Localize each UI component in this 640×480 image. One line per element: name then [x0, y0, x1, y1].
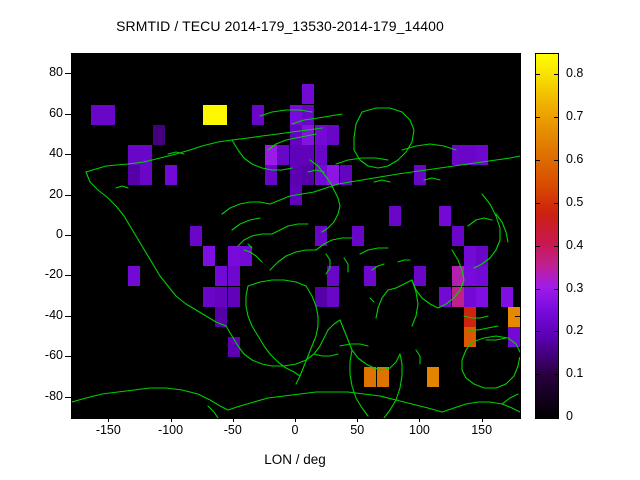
y-tick-label: 0 — [19, 227, 63, 241]
colorbar-tick-mark — [554, 246, 559, 247]
y-tick-mark — [515, 356, 520, 357]
colorbar-tick-mark — [554, 203, 559, 204]
colorbar-tick-mark — [554, 417, 559, 418]
y-tick-mark — [515, 73, 520, 74]
y-tick-mark — [65, 73, 71, 74]
y-tick-label: 20 — [19, 187, 63, 201]
colorbar-tick-label: 0.5 — [566, 195, 583, 209]
colorbar-gradient — [536, 54, 558, 418]
colorbar-tick-label: 0.4 — [566, 238, 583, 252]
x-tick-label: -100 — [141, 423, 201, 437]
colorbar-tick-mark — [535, 374, 540, 375]
y-tick-mark — [65, 195, 71, 196]
colorbar-tick-label: 0.2 — [566, 323, 583, 337]
colorbar-tick-mark — [535, 117, 540, 118]
x-tick-mark — [108, 53, 109, 58]
chart-title: SRMTID / TECU 2014-179_13530-2014-179_14… — [0, 18, 560, 34]
colorbar-tick-mark — [535, 203, 540, 204]
colorbar-tick-label: 0 — [566, 409, 573, 423]
colorbar-tick-mark — [535, 246, 540, 247]
y-tick-label: -20 — [19, 267, 63, 281]
y-tick-label: -60 — [19, 348, 63, 362]
x-tick-mark — [419, 416, 420, 422]
x-tick-mark — [233, 53, 234, 58]
coastline-overlay — [72, 54, 520, 418]
x-tick-mark — [357, 416, 358, 422]
colorbar-tick-mark — [554, 117, 559, 118]
y-tick-label: 80 — [19, 65, 63, 79]
y-tick-mark — [65, 235, 71, 236]
y-tick-mark — [65, 275, 71, 276]
x-tick-mark — [419, 53, 420, 58]
x-axis-title: LON / deg — [0, 452, 590, 467]
colorbar-tick-mark — [554, 160, 559, 161]
colorbar-tick-mark — [554, 289, 559, 290]
plot-figure: SRMTID / TECU 2014-179_13530-2014-179_14… — [0, 0, 640, 480]
x-tick-label: -50 — [203, 423, 263, 437]
colorbar-tick-mark — [554, 374, 559, 375]
colorbar-tick-mark — [535, 331, 540, 332]
plot-area — [71, 53, 521, 419]
x-tick-label: 50 — [327, 423, 387, 437]
y-tick-mark — [515, 114, 520, 115]
colorbar-tick-mark — [554, 74, 559, 75]
x-tick-label: 150 — [452, 423, 512, 437]
x-tick-label: 100 — [389, 423, 449, 437]
colorbar-tick-label: 0.1 — [566, 366, 583, 380]
colorbar-tick-label: 0.7 — [566, 109, 583, 123]
colorbar-tick-mark — [535, 289, 540, 290]
x-tick-mark — [108, 416, 109, 422]
x-tick-mark — [233, 416, 234, 422]
colorbar-tick-label: 0.6 — [566, 152, 583, 166]
y-tick-mark — [515, 275, 520, 276]
x-tick-label: -150 — [78, 423, 138, 437]
y-tick-label: -40 — [19, 308, 63, 322]
y-tick-mark — [515, 235, 520, 236]
colorbar — [535, 53, 559, 419]
colorbar-tick-mark — [535, 74, 540, 75]
y-tick-mark — [65, 397, 71, 398]
colorbar-tick-mark — [554, 331, 559, 332]
y-tick-mark — [65, 114, 71, 115]
y-tick-mark — [65, 356, 71, 357]
colorbar-tick-mark — [535, 417, 540, 418]
y-tick-label: -80 — [19, 389, 63, 403]
colorbar-tick-mark — [535, 160, 540, 161]
x-tick-mark — [171, 416, 172, 422]
y-tick-mark — [515, 316, 520, 317]
y-tick-mark — [515, 195, 520, 196]
x-tick-mark — [482, 416, 483, 422]
colorbar-tick-label: 0.3 — [566, 281, 583, 295]
y-tick-mark — [65, 154, 71, 155]
y-tick-mark — [515, 154, 520, 155]
x-tick-label: 0 — [265, 423, 325, 437]
x-tick-mark — [357, 53, 358, 58]
y-tick-label: 60 — [19, 106, 63, 120]
x-tick-mark — [482, 53, 483, 58]
colorbar-tick-label: 0.8 — [566, 66, 583, 80]
y-tick-label: 40 — [19, 146, 63, 160]
y-tick-mark — [65, 316, 71, 317]
x-tick-mark — [171, 53, 172, 58]
y-tick-mark — [515, 397, 520, 398]
x-tick-mark — [295, 416, 296, 422]
x-tick-mark — [295, 53, 296, 58]
